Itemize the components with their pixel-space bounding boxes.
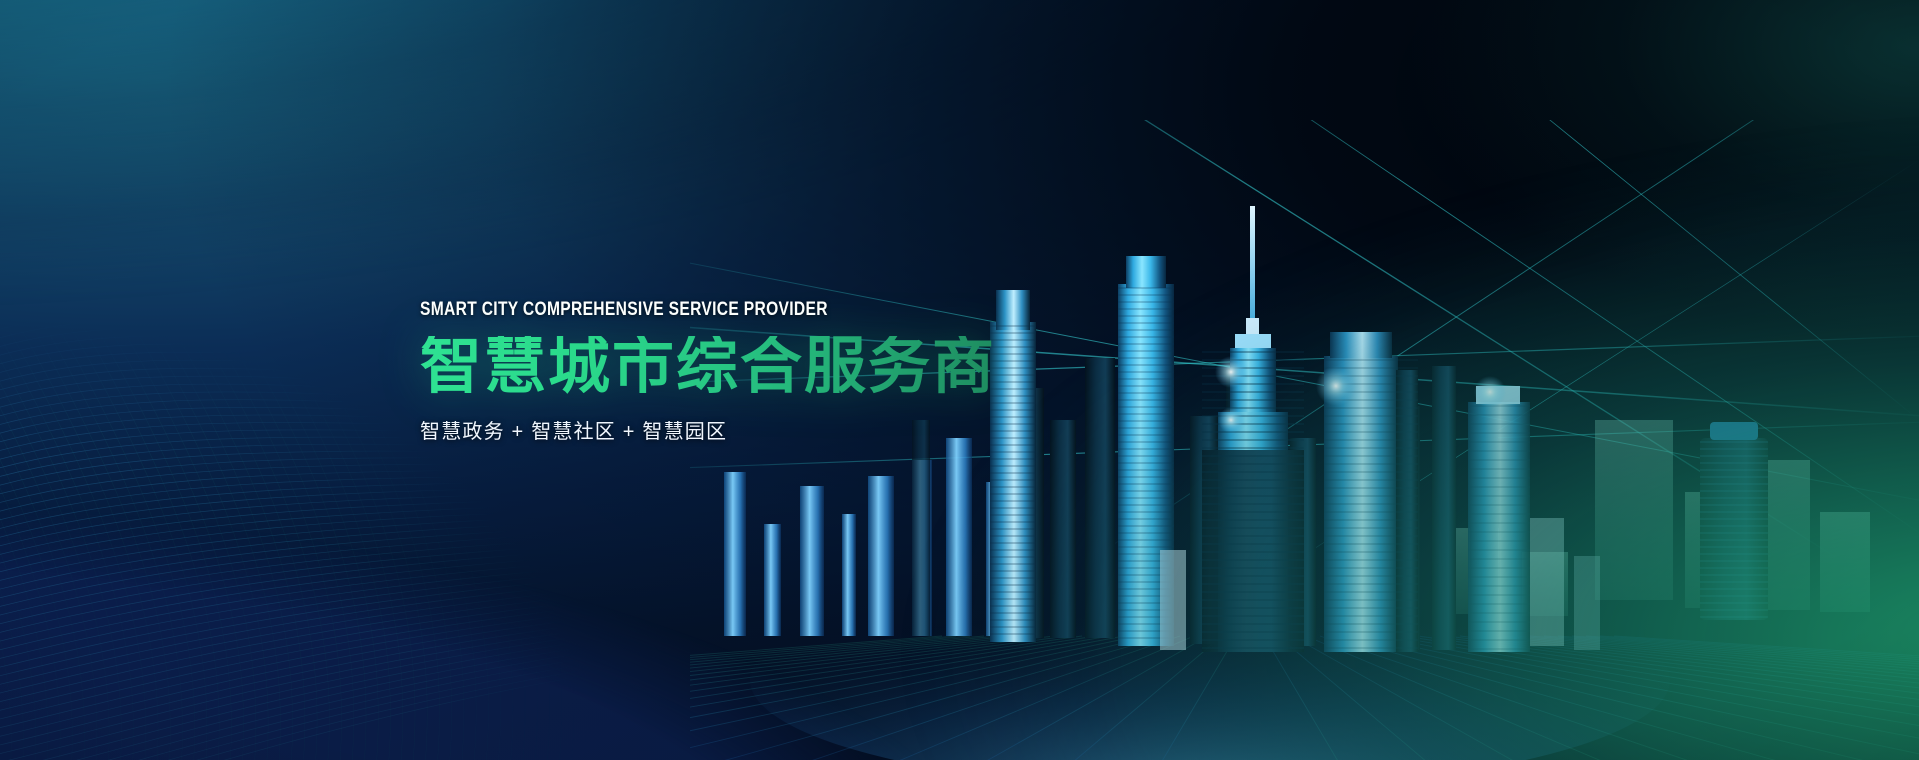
tower-glass-right <box>1316 332 1418 652</box>
tower-block-right <box>1468 376 1530 652</box>
hero-copy-block: SMART CITY COMPREHENSIVE SERVICE PROVIDE… <box>420 300 1120 442</box>
hero-subline: 智慧政务 + 智慧社区 + 智慧园区 <box>420 422 1120 442</box>
hero-eyebrow: SMART CITY COMPREHENSIVE SERVICE PROVIDE… <box>420 300 980 320</box>
hero-headline: 智慧城市综合服务商 <box>420 336 1120 398</box>
bar-slabs <box>724 438 1002 636</box>
tower-cylinder <box>1700 422 1768 620</box>
banner-hero: SMART CITY COMPREHENSIVE SERVICE PROVIDE… <box>0 0 1919 760</box>
